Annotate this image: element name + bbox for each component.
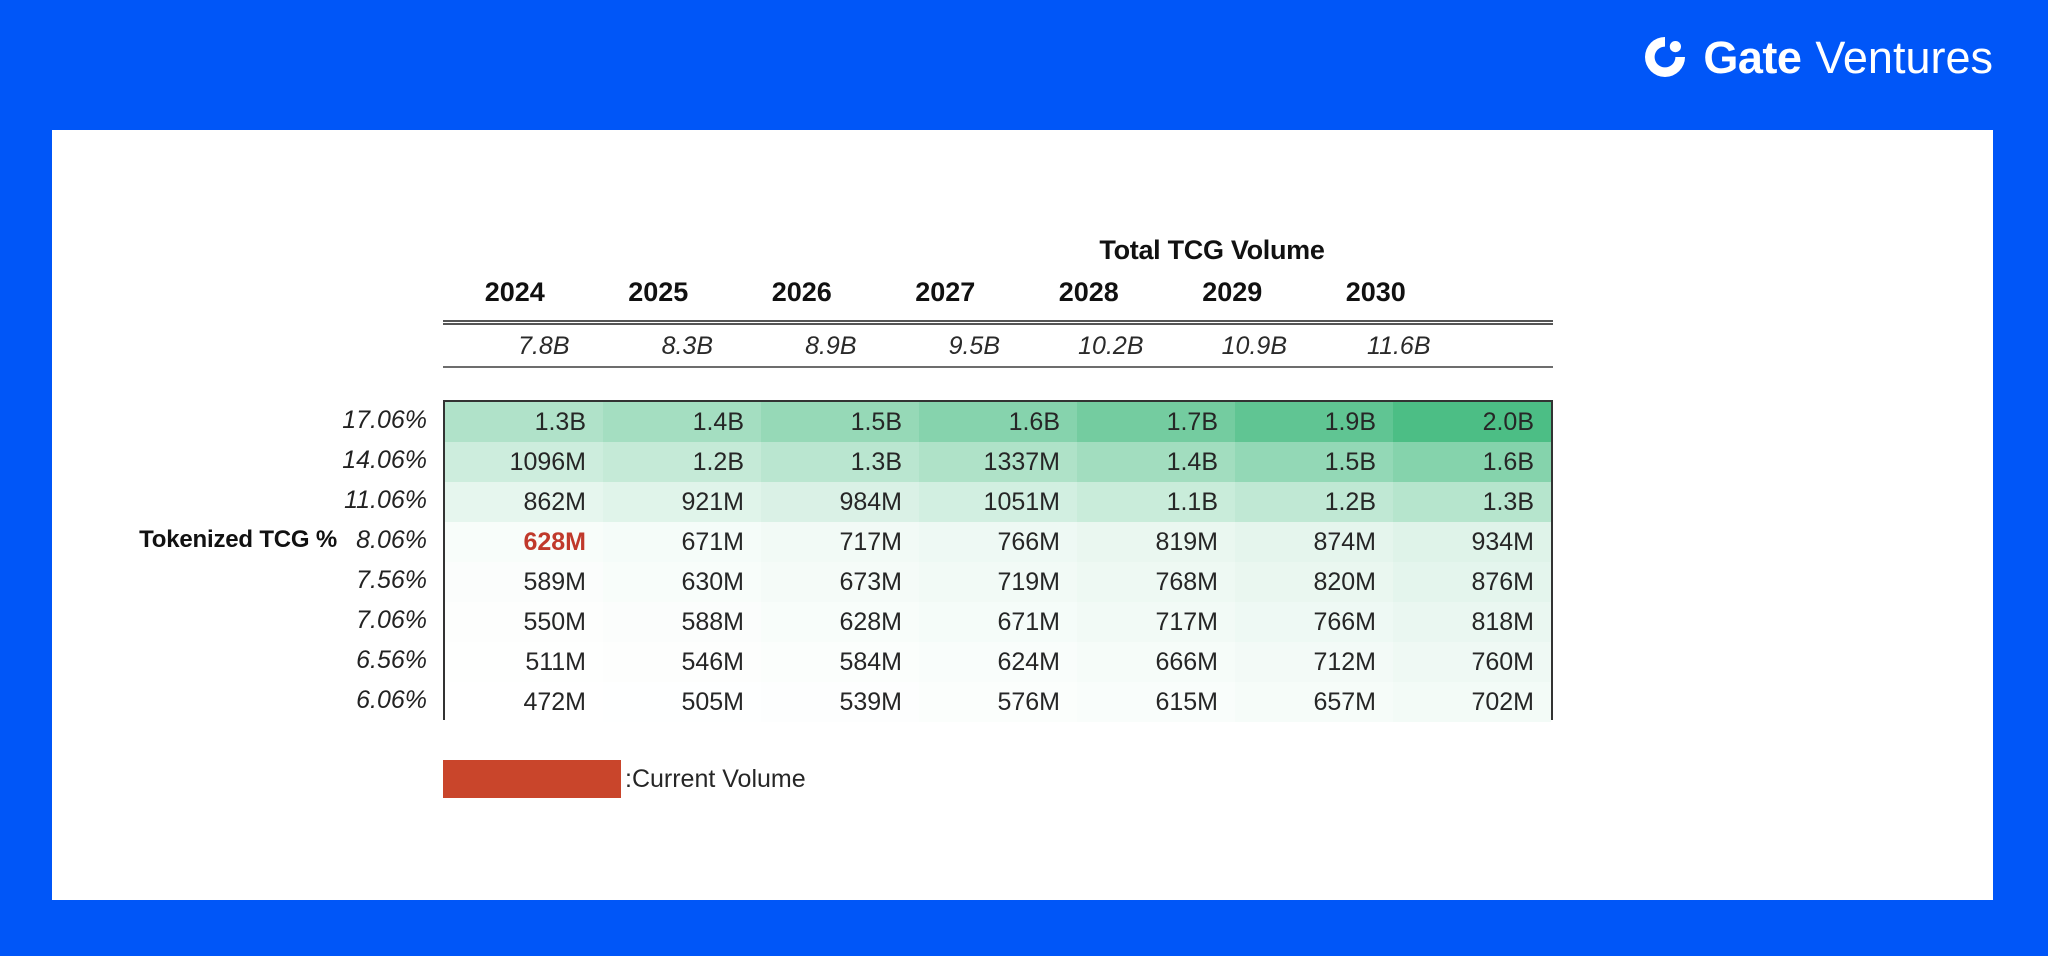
table-row: 628M671M717M766M819M874M934M (445, 522, 1551, 562)
heatmap-cell: 584M (761, 642, 919, 682)
total-volume-2028: 10.2B (1017, 328, 1161, 364)
heatmap-cell: 1337M (919, 442, 1077, 482)
heatmap-cell: 671M (919, 602, 1077, 642)
brand-sub: Ventures (1815, 35, 1993, 80)
heatmap-cell: 539M (761, 682, 919, 722)
column-header-2024: 2024 (443, 272, 587, 312)
heatmap-cell: 1.5B (761, 402, 919, 442)
heatmap-figure: Total TCG Volume 2024 2025 2026 2027 202… (52, 130, 1993, 900)
heatmap-cell: 1.3B (1393, 482, 1551, 522)
brand-logo: Gate Ventures (1641, 26, 1993, 88)
table-row: 550M588M628M671M717M766M818M (445, 602, 1551, 642)
chart-title: Total TCG Volume (1012, 235, 1412, 266)
legend: :Current Volume (443, 760, 806, 798)
heatmap-cell: 588M (603, 602, 761, 642)
heatmap-cell: 1.6B (1393, 442, 1551, 482)
heatmap-body: 1.3B1.4B1.5B1.6B1.7B1.9B2.0B1096M1.2B1.3… (443, 400, 1553, 720)
brand-name: Gate (1703, 35, 1801, 80)
heatmap-cell: 984M (761, 482, 919, 522)
heatmap-cell: 766M (919, 522, 1077, 562)
heatmap-cell: 546M (603, 642, 761, 682)
total-row-underline (443, 366, 1553, 368)
heatmap-cell: 671M (603, 522, 761, 562)
heatmap-cell: 1.6B (919, 402, 1077, 442)
table-row: 472M505M539M576M615M657M702M (445, 682, 1551, 722)
heatmap-cell: 657M (1235, 682, 1393, 722)
heatmap-cell: 712M (1235, 642, 1393, 682)
heatmap-cell: 768M (1077, 562, 1235, 602)
heatmap-cell: 1.1B (1077, 482, 1235, 522)
heatmap-cell: 472M (445, 682, 603, 722)
heatmap-cell: 550M (445, 602, 603, 642)
heatmap-cell: 760M (1393, 642, 1551, 682)
total-volume-2024: 7.8B (443, 328, 587, 364)
total-volume-2029: 10.9B (1161, 328, 1305, 364)
total-volume-row: 7.8B 8.3B 8.9B 9.5B 10.2B 10.9B 11.6B (52, 328, 1993, 364)
row-label-7-06: 7.06% (227, 600, 427, 640)
table-row: 511M546M584M624M666M712M760M (445, 642, 1551, 682)
row-label-11-06: 11.06% (227, 480, 427, 520)
year-header-row: 2024 2025 2026 2027 2028 2029 2030 (52, 272, 1993, 312)
heatmap-cell: 766M (1235, 602, 1393, 642)
heatmap-cell: 666M (1077, 642, 1235, 682)
heatmap-cell: 934M (1393, 522, 1551, 562)
heatmap-cell: 819M (1077, 522, 1235, 562)
heatmap-cell: 630M (603, 562, 761, 602)
brand-bar: Gate Ventures (0, 0, 2048, 130)
table-row: 1096M1.2B1.3B1337M1.4B1.5B1.6B (445, 442, 1551, 482)
table-row: 589M630M673M719M768M820M876M (445, 562, 1551, 602)
heatmap-cell: 628M (445, 522, 603, 562)
heatmap-cell: 628M (761, 602, 919, 642)
column-header-2026: 2026 (730, 272, 874, 312)
row-label-14-06: 14.06% (227, 440, 427, 480)
heatmap-cell: 1.2B (1235, 482, 1393, 522)
row-label-7-56: 7.56% (227, 560, 427, 600)
heatmap-cell: 921M (603, 482, 761, 522)
heatmap-cell: 2.0B (1393, 402, 1551, 442)
heatmap-cell: 624M (919, 642, 1077, 682)
total-volume-2030: 11.6B (1304, 328, 1448, 364)
total-volume-2025: 8.3B (587, 328, 731, 364)
row-label-6-06: 6.06% (227, 680, 427, 720)
heatmap-cell: 589M (445, 562, 603, 602)
heatmap-cell: 717M (1077, 602, 1235, 642)
total-volume-2026: 8.9B (730, 328, 874, 364)
content-card: Total TCG Volume 2024 2025 2026 2027 202… (52, 130, 1993, 900)
heatmap-cell: 1.4B (1077, 442, 1235, 482)
heatmap-cell: 702M (1393, 682, 1551, 722)
table-row: 862M921M984M1051M1.1B1.2B1.3B (445, 482, 1551, 522)
heatmap-cell: 719M (919, 562, 1077, 602)
heatmap-cell: 511M (445, 642, 603, 682)
heatmap-cell: 673M (761, 562, 919, 602)
column-header-2027: 2027 (874, 272, 1018, 312)
row-label-17-06: 17.06% (227, 400, 427, 440)
column-header-2025: 2025 (587, 272, 731, 312)
heatmap-cell: 876M (1393, 562, 1551, 602)
heatmap-cell: 1.3B (761, 442, 919, 482)
heatmap-cell: 1051M (919, 482, 1077, 522)
heatmap-cell: 1.5B (1235, 442, 1393, 482)
heatmap-cell: 1.9B (1235, 402, 1393, 442)
heatmap-cell: 820M (1235, 562, 1393, 602)
total-volume-row-label (52, 328, 443, 364)
heatmap-cell: 874M (1235, 522, 1393, 562)
heatmap-cell: 862M (445, 482, 603, 522)
heatmap-cell: 1.4B (603, 402, 761, 442)
total-volume-2027: 9.5B (874, 328, 1018, 364)
heatmap-cell: 505M (603, 682, 761, 722)
column-header-2029: 2029 (1161, 272, 1305, 312)
column-header-2030: 2030 (1304, 272, 1448, 312)
heatmap-cell: 615M (1077, 682, 1235, 722)
table-row: 1.3B1.4B1.5B1.6B1.7B1.9B2.0B (445, 402, 1551, 442)
corner-spacer (52, 272, 443, 312)
heatmap-cell: 1.7B (1077, 402, 1235, 442)
heatmap-cell: 818M (1393, 602, 1551, 642)
legend-swatch-current-volume (443, 760, 621, 798)
row-label-column: 17.06%14.06%11.06%8.06%7.56%7.06%6.56%6.… (52, 400, 435, 720)
heatmap-cell: 1.2B (603, 442, 761, 482)
gate-circle-logo-icon (1641, 33, 1689, 81)
heatmap-cell: 1.3B (445, 402, 603, 442)
row-label-8-06: 8.06% (227, 520, 427, 560)
heatmap-cell: 717M (761, 522, 919, 562)
heatmap-cell: 576M (919, 682, 1077, 722)
row-label-6-56: 6.56% (227, 640, 427, 680)
heatmap-table: 1.3B1.4B1.5B1.6B1.7B1.9B2.0B1096M1.2B1.3… (445, 402, 1551, 722)
header-double-rule (443, 320, 1553, 325)
column-header-2028: 2028 (1017, 272, 1161, 312)
heatmap-cell: 1096M (445, 442, 603, 482)
legend-label: :Current Volume (625, 765, 806, 794)
